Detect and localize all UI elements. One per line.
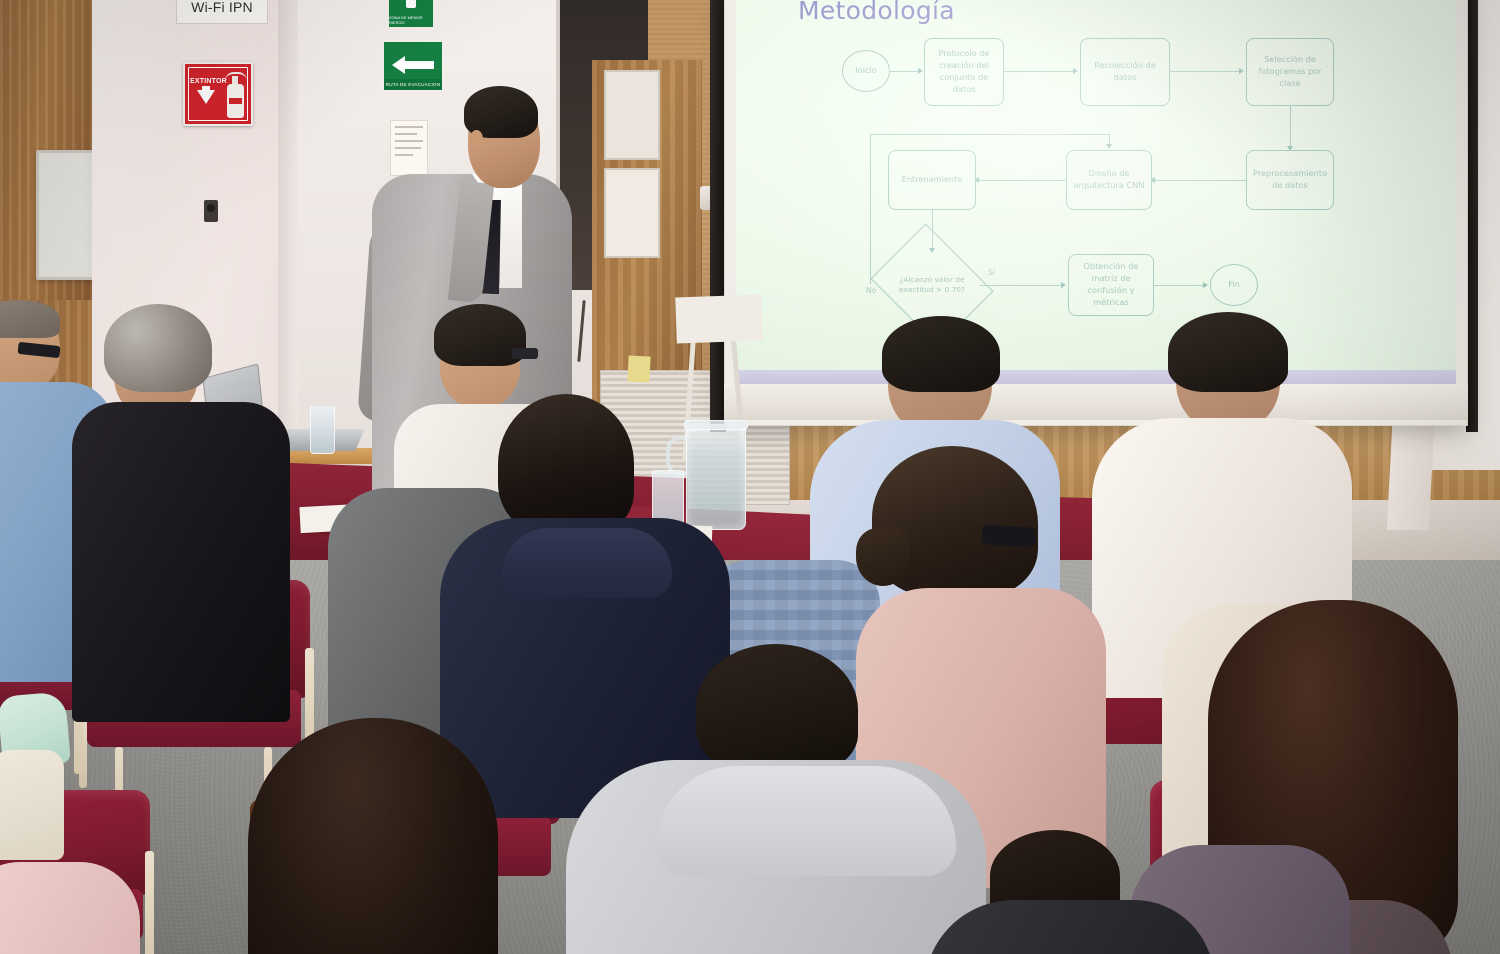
arrowhead-icon	[1106, 144, 1112, 149]
lower-risk-label: ZONA DE MENOR RIESGO	[389, 15, 433, 25]
flow-node-protocolo: Protocolo de creación del conjunto de da…	[924, 38, 1004, 106]
torso	[0, 862, 140, 954]
flow-node-inicio: Inicio	[842, 50, 890, 92]
hair	[248, 718, 498, 954]
branch-label-si: Sí	[988, 268, 995, 277]
edge-loop-vertical	[870, 134, 871, 284]
down-arrow-icon	[197, 90, 215, 104]
edge-seleccion-preproceso	[1290, 106, 1291, 150]
edge-matriz-fin	[1154, 285, 1206, 286]
flow-node-arquitectura: Diseño de arquitectura CNN	[1066, 150, 1152, 210]
arrowhead-icon	[1073, 68, 1078, 74]
hood	[502, 528, 672, 598]
decision-label: ¿Alcanzó valor de exactitud > 0.70?	[884, 246, 980, 324]
extinguisher-band-icon	[229, 98, 242, 104]
arrowhead-icon	[918, 68, 923, 74]
screen-bottom-bar	[724, 384, 1468, 420]
water-pitcher	[686, 424, 746, 530]
branch-label-no: No	[866, 286, 876, 295]
fire-extinguisher-sign: EXTINTOR	[183, 62, 253, 126]
door-shelf-upper	[604, 70, 660, 160]
left-arrow-stem	[404, 61, 434, 69]
pitcher-lip	[684, 420, 748, 430]
hair	[882, 316, 1000, 392]
methodology-flowchart: Inicio Protocolo de creación del conjunt…	[736, 0, 1456, 376]
wall-speaker-icon	[204, 200, 218, 222]
flipchart-board	[675, 295, 763, 344]
flow-node-matriz: Obtención de matriz de confusión y métri…	[1068, 254, 1154, 316]
water-glass	[310, 406, 335, 454]
hood	[656, 766, 956, 876]
flow-node-preprocesamiento: Preprocesamiento de datos	[1246, 150, 1334, 210]
person-glyph-icon	[406, 0, 416, 8]
flow-node-decision: ¿Alcanzó valor de exactitud > 0.70?	[884, 246, 980, 324]
hair	[104, 304, 212, 392]
hair	[1168, 312, 1288, 392]
projection-screen: Metodología Inicio Protocolo de creación…	[736, 0, 1456, 376]
ponytail	[856, 528, 910, 586]
edge-preproceso-arquitectura	[1154, 180, 1246, 181]
edge-decision-matriz	[980, 285, 1064, 286]
hair	[696, 644, 858, 772]
edge-arquitectura-entrenamiento	[978, 180, 1066, 181]
pillar-edge	[278, 0, 300, 455]
extinguisher-label: EXTINTOR	[190, 78, 224, 85]
presenter-ear	[470, 130, 483, 148]
arrowhead-icon	[1061, 282, 1066, 288]
door-shelf-lower	[604, 168, 660, 258]
flow-node-fin: Fin	[1210, 264, 1258, 306]
presentation-photo-scene: Wi-Fi IPN EXTINTOR ZONA DE MENOR RIESGO …	[0, 0, 1500, 954]
draped-jacket	[0, 750, 64, 860]
eyeglasses-icon	[981, 524, 1036, 548]
sticky-note	[627, 355, 650, 382]
arrowhead-icon	[1203, 282, 1208, 288]
torso	[72, 402, 290, 722]
edge-protocolo-recoleccion	[1004, 71, 1076, 72]
edge-inicio-protocolo	[890, 71, 920, 72]
flow-node-seleccion: Selección de fotogramas por clase	[1246, 38, 1334, 106]
flow-node-recoleccion: Recolección de datos	[1080, 38, 1170, 106]
hair	[498, 394, 634, 534]
edge-recoleccion-seleccion	[1170, 71, 1242, 72]
eyeglasses-icon	[512, 348, 538, 359]
lower-risk-zone-sign: ZONA DE MENOR RIESGO	[388, 0, 434, 28]
arrowhead-icon	[1239, 68, 1244, 74]
edge-loop-horizontal	[870, 134, 1110, 135]
flow-node-entrenamiento: Entrenamiento	[888, 150, 976, 210]
chair-frame	[145, 851, 154, 954]
wifi-sign: Wi-Fi IPN	[176, 0, 268, 24]
